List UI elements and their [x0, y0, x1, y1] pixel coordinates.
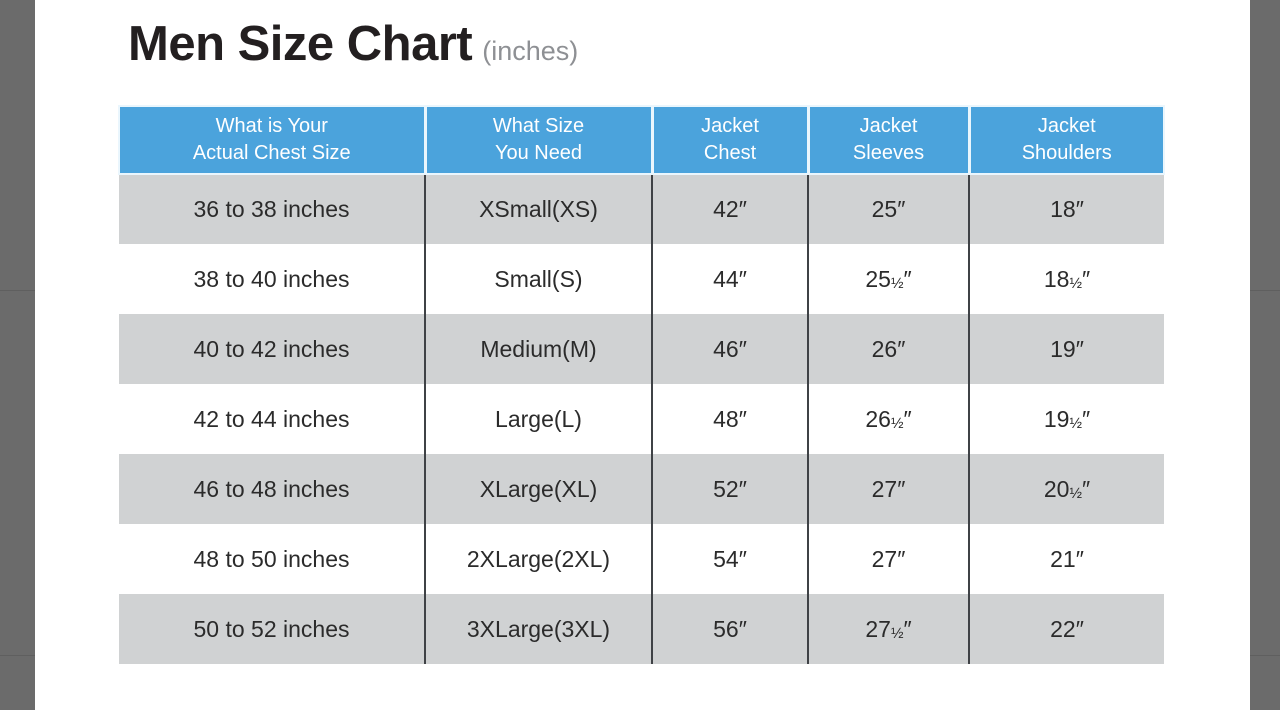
table-row: 42 to 44 inchesLarge(L)48″26½″19½″ — [119, 384, 1164, 454]
cell-jacket-shoulders: 18½″ — [969, 244, 1164, 314]
cell-jacket-shoulders: 19½″ — [969, 384, 1164, 454]
column-header-jacket-sleeves: JacketSleeves — [808, 106, 969, 174]
cell-chest-size: 42 to 44 inches — [119, 384, 425, 454]
size-chart-page: Men Size Chart (inches) What is YourActu… — [0, 0, 1280, 710]
table-row: 38 to 40 inchesSmall(S)44″25½″18½″ — [119, 244, 1164, 314]
cell-chest-size: 50 to 52 inches — [119, 594, 425, 664]
column-header-jacket-chest: JacketChest — [652, 106, 808, 174]
cell-jacket-chest: 42″ — [652, 174, 808, 244]
cell-size-needed: XSmall(XS) — [425, 174, 652, 244]
cell-jacket-sleeves: 27″ — [808, 454, 969, 524]
cell-jacket-sleeves: 25½″ — [808, 244, 969, 314]
column-header-line1: What Size — [433, 113, 645, 140]
page-title-unit: (inches) — [482, 38, 578, 65]
column-header-size-needed: What SizeYou Need — [425, 106, 652, 174]
letterbox-bar-left — [0, 0, 35, 710]
table-row: 40 to 42 inchesMedium(M)46″26″19″ — [119, 314, 1164, 384]
column-header-line2: Sleeves — [816, 140, 962, 167]
cell-size-needed: Large(L) — [425, 384, 652, 454]
cell-size-needed: 3XLarge(3XL) — [425, 594, 652, 664]
cell-jacket-sleeves: 27″ — [808, 524, 969, 594]
cell-jacket-chest: 54″ — [652, 524, 808, 594]
cell-jacket-shoulders: 21″ — [969, 524, 1164, 594]
column-header-line1: Jacket — [660, 113, 801, 140]
cell-jacket-sleeves: 25″ — [808, 174, 969, 244]
page-title: Men Size Chart (inches) — [128, 20, 578, 69]
cell-jacket-sleeves: 26″ — [808, 314, 969, 384]
cell-size-needed: XLarge(XL) — [425, 454, 652, 524]
table-header-row: What is YourActual Chest SizeWhat SizeYo… — [119, 106, 1164, 174]
cell-jacket-sleeves: 27½″ — [808, 594, 969, 664]
table-body: 36 to 38 inchesXSmall(XS)42″25″18″38 to … — [119, 174, 1164, 664]
table-row: 50 to 52 inches3XLarge(3XL)56″27½″22″ — [119, 594, 1164, 664]
size-chart-table: What is YourActual Chest SizeWhat SizeYo… — [118, 105, 1165, 664]
column-header-line1: Jacket — [816, 113, 962, 140]
cell-size-needed: Small(S) — [425, 244, 652, 314]
cell-jacket-shoulders: 22″ — [969, 594, 1164, 664]
cell-jacket-chest: 52″ — [652, 454, 808, 524]
column-header-line2: Shoulders — [977, 140, 1158, 167]
cell-size-needed: Medium(M) — [425, 314, 652, 384]
column-header-jacket-shoulders: JacketShoulders — [969, 106, 1164, 174]
table-row: 36 to 38 inchesXSmall(XS)42″25″18″ — [119, 174, 1164, 244]
cell-jacket-chest: 44″ — [652, 244, 808, 314]
column-header-chest-size: What is YourActual Chest Size — [119, 106, 425, 174]
column-header-line2: Actual Chest Size — [126, 140, 418, 167]
cell-size-needed: 2XLarge(2XL) — [425, 524, 652, 594]
cell-jacket-shoulders: 18″ — [969, 174, 1164, 244]
cell-chest-size: 40 to 42 inches — [119, 314, 425, 384]
cell-chest-size: 48 to 50 inches — [119, 524, 425, 594]
cell-jacket-sleeves: 26½″ — [808, 384, 969, 454]
table-header: What is YourActual Chest SizeWhat SizeYo… — [119, 106, 1164, 174]
cell-jacket-chest: 48″ — [652, 384, 808, 454]
column-header-line1: Jacket — [977, 113, 1158, 140]
table-row: 48 to 50 inches2XLarge(2XL)54″27″21″ — [119, 524, 1164, 594]
cell-jacket-shoulders: 19″ — [969, 314, 1164, 384]
cell-chest-size: 36 to 38 inches — [119, 174, 425, 244]
cell-jacket-chest: 46″ — [652, 314, 808, 384]
cell-chest-size: 46 to 48 inches — [119, 454, 425, 524]
column-header-line2: You Need — [433, 140, 645, 167]
cell-chest-size: 38 to 40 inches — [119, 244, 425, 314]
letterbox-bar-right — [1250, 0, 1280, 710]
page-title-main: Men Size Chart — [128, 20, 472, 69]
cell-jacket-shoulders: 20½″ — [969, 454, 1164, 524]
column-header-line1: What is Your — [126, 113, 418, 140]
column-header-line2: Chest — [660, 140, 801, 167]
table-row: 46 to 48 inchesXLarge(XL)52″27″20½″ — [119, 454, 1164, 524]
cell-jacket-chest: 56″ — [652, 594, 808, 664]
